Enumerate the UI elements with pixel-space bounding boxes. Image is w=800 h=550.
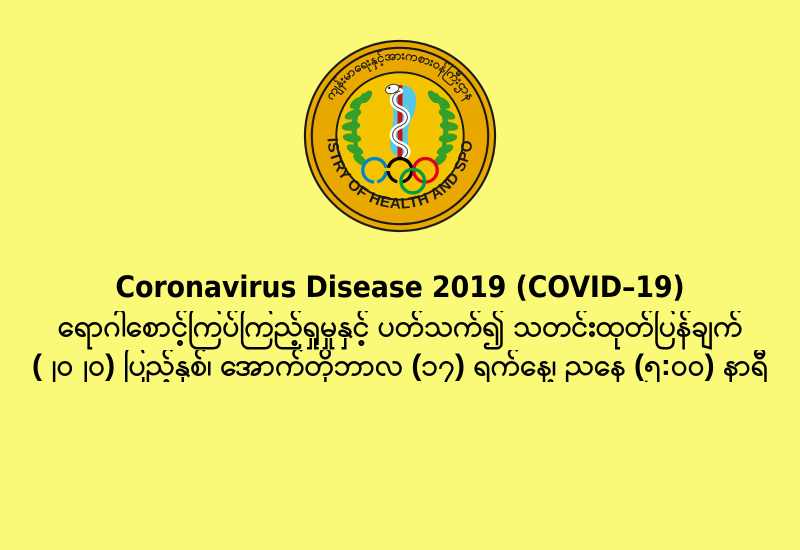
announcement-datetime-burmese: (၂၀၂၀) ပြည့်နှစ်၊ အောက်တိုဘာလ (၁၇) ရက်နေ… <box>0 350 800 382</box>
ministry-seal-emblem: ကျန်းမာရေးနှင့်အားကစားဝန်ကြီးဌာန MINISTR… <box>302 32 498 240</box>
announcement-text-block: Coronavirus Disease 2019 (COVID–19) ရောဂ… <box>0 272 800 382</box>
subtitle-row-1: ရောဂါစောင့်ကြပ်ကြည့်ရှုမှုနှင့် ပတ်သက်၍ … <box>0 311 800 349</box>
subtitle-row-2: (၂၀၂၀) ပြည့်နှစ်၊ အောက်တိုဘာလ (၁၇) ရက်နေ… <box>0 350 800 382</box>
ministry-seal-svg: ကျန်းမာရေးနှင့်အားကစားဝန်ကြီးဌာန MINISTR… <box>302 32 498 240</box>
page-title-english: Coronavirus Disease 2019 (COVID–19) <box>28 272 772 303</box>
asclepius-snake-eye <box>388 87 390 89</box>
covid-announcement-slide: ကျန်းမာရေးနှင့်အားကစားဝန်ကြီးဌာန MINISTR… <box>0 0 800 550</box>
announcement-subject-burmese: ရောဂါစောင့်ကြပ်ကြည့်ရှုမှုနှင့် ပတ်သက်၍ … <box>0 311 800 343</box>
title-row: Coronavirus Disease 2019 (COVID–19) <box>0 272 800 311</box>
